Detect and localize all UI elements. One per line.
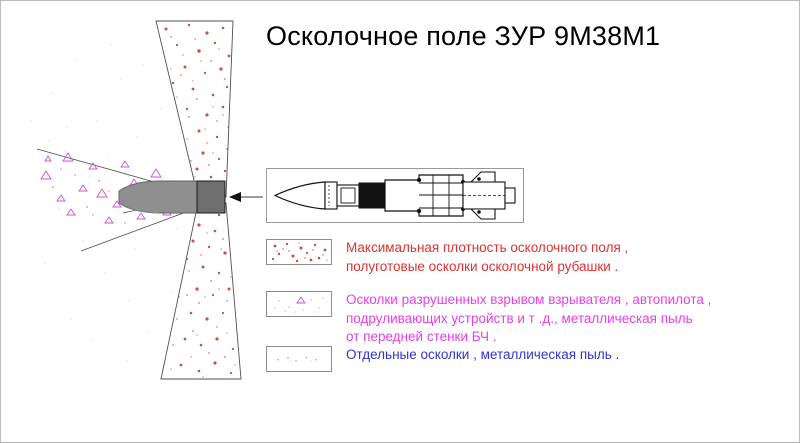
- legend-line: Осколки разрушенных взрывом взрывателя ,…: [346, 291, 711, 310]
- legend-text-single-fragments: Отдельные осколки , металлическая пыль .: [346, 346, 619, 365]
- legend-item-sparse-field: Осколки разрушенных взрывом взрывателя ,…: [266, 291, 711, 347]
- fragmentation-field-diagram: [1, 1, 281, 411]
- legend-item-single-fragments: Отдельные осколки , металлическая пыль .: [266, 346, 619, 372]
- page-title: Осколочное поле ЗУР 9М38М1: [266, 19, 660, 53]
- legend-line: Максимальная плотность осколочного поля …: [346, 239, 628, 258]
- sparse-magenta-fragment-swatch: [266, 291, 332, 317]
- missile-9m38m1-profile: [266, 168, 524, 223]
- upper-fragment-cone: [156, 21, 233, 197]
- legend-line: полуготовые осколки осколочной рубашки .: [346, 258, 628, 277]
- legend-line: Отдельные осколки , металлическая пыль .: [346, 346, 619, 365]
- dense-red-fragment-swatch: [266, 239, 332, 265]
- legend-line: от передней стенки БЧ .: [346, 328, 711, 347]
- lower-fragment-cone: [161, 203, 249, 379]
- legend-text-dense-field: Максимальная плотность осколочного поля …: [346, 239, 628, 276]
- leader-arrow-icon: [229, 192, 263, 202]
- diagram-page: Осколочное поле ЗУР 9М38М1: [0, 0, 800, 443]
- missile-silhouette-icon: [119, 181, 225, 213]
- legend-line: подруливающих устройств и т .д., металли…: [346, 310, 711, 329]
- single-fragment-swatch: [266, 346, 332, 372]
- legend-item-dense-field: Максимальная плотность осколочного поля …: [266, 239, 628, 276]
- legend-text-sparse-field: Осколки разрушенных взрывом взрывателя ,…: [346, 291, 711, 347]
